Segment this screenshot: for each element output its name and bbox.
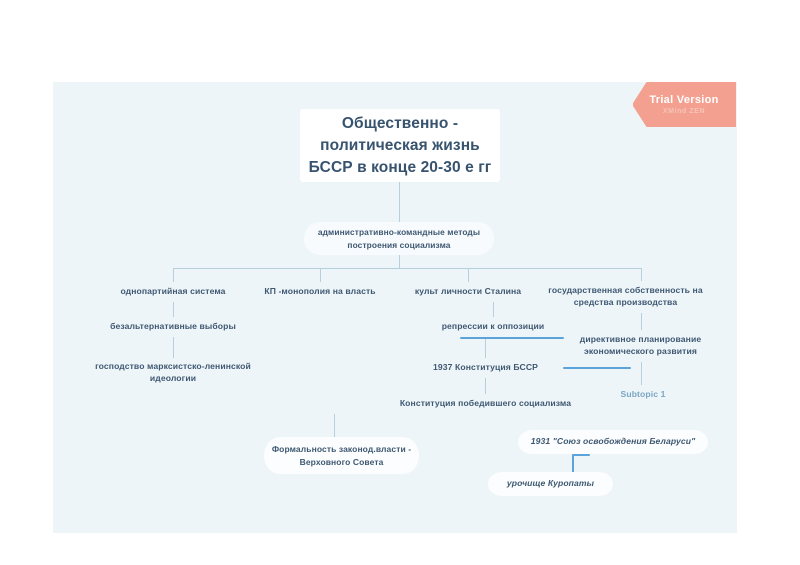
connector-elbow-top [572,454,590,456]
connector-d3-f1 [334,414,335,437]
branch-label: государственная собственность на средств… [548,285,702,308]
child-label: 1937 Конституция БССР [433,362,538,374]
child-node-konstituciya-1937[interactable]: 1937 Конституция БССР [398,358,573,378]
branch-node-odnopartiynaya[interactable]: однопартийная система [98,282,248,302]
level2-node[interactable]: административно-командные методы построе… [304,222,494,255]
connector-e1-e2 [641,362,642,385]
root-node-label: Общественно - политическая жизнь БССР в … [309,113,492,179]
connector-b3-d1 [493,302,494,317]
bottom-node-soyuz-osvobozhdeniya[interactable]: 1931 "Союз освобождения Беларуси" [518,430,708,454]
child-label: безальтернативные выборы [110,321,236,333]
child-label: репрессии к оппозиции [442,321,545,333]
connector-b1-c1 [173,302,174,317]
connector-drop-branch2 [320,268,321,282]
branch-label: однопартийная система [120,286,225,298]
child-node-bezalternativnye-vybory[interactable]: безальтернативные выборы [98,317,248,337]
branch-node-kult-lichnosti[interactable]: культ личности Сталина [393,282,543,302]
connector-b4-e1 [641,313,642,330]
root-node[interactable]: Общественно - политическая жизнь БССР в … [300,109,500,182]
child-node-direktivnoe-planirovanie[interactable]: директивное планирование экономического … [553,330,728,362]
branch-label: культ личности Сталина [415,286,521,298]
bottom-node-formalnost[interactable]: Формальность законод.власти - Верховного… [264,437,419,474]
branch-node-gosudarstvennaya-sobstvennost[interactable]: государственная собственность на средств… [533,281,718,313]
connector-drop-branch3 [468,268,469,282]
mindmap-canvas[interactable]: Общественно - политическая жизнь БССР в … [53,82,737,533]
connector-root-to-level2 [399,182,400,222]
child-label: директивное планирование экономического … [580,334,701,357]
branch-label: КП -монополия на власть [264,286,375,298]
connector-level2-down [399,255,400,268]
watermark-product: XMind ZEN [663,108,705,115]
trial-version-watermark: Trial Version XMind ZEN [633,82,736,127]
level2-node-label: административно-командные методы построе… [318,226,480,251]
connector-drop-branch4 [641,268,642,281]
bottom-node-label: урочище Куропаты [507,478,594,490]
child-label: Конституция победившего социализма [400,398,571,410]
connector-drop-branch1 [173,268,174,282]
branch-node-kp-monopoliya[interactable]: КП -монополия на власть [245,282,395,302]
accent-underline-repressii [460,337,564,339]
bottom-node-label: 1931 "Союз освобождения Беларуси" [531,436,696,448]
child-node-repressii[interactable]: репрессии к оппозиции [413,317,573,337]
connector-d1-d2 [485,337,486,358]
child-node-subtopic-1[interactable]: Subtopic 1 [593,385,693,405]
child-node-konstituciya-socializma[interactable]: Конституция победившего социализма [353,394,618,414]
watermark-wrapper: Trial Version XMind ZEN [633,82,737,127]
bottom-node-label: Формальность законод.власти - Верховного… [272,443,411,469]
connector-elbow-vertical [572,454,574,474]
child-node-gospodstvo-ideologii[interactable]: господство марксистско-ленинской идеолог… [83,357,263,389]
bottom-node-urochishche-kuropaty[interactable]: урочище Куропаты [488,472,613,496]
connector-d2-d3 [485,378,486,394]
connector-c1-c2 [173,337,174,358]
child-label: Subtopic 1 [621,389,666,401]
watermark-title: Trial Version [649,94,718,106]
connector-bus-horizontal [173,268,641,269]
child-label: господство марксистско-ленинской идеолог… [95,361,251,384]
accent-underline-direktivnoe [563,367,631,369]
